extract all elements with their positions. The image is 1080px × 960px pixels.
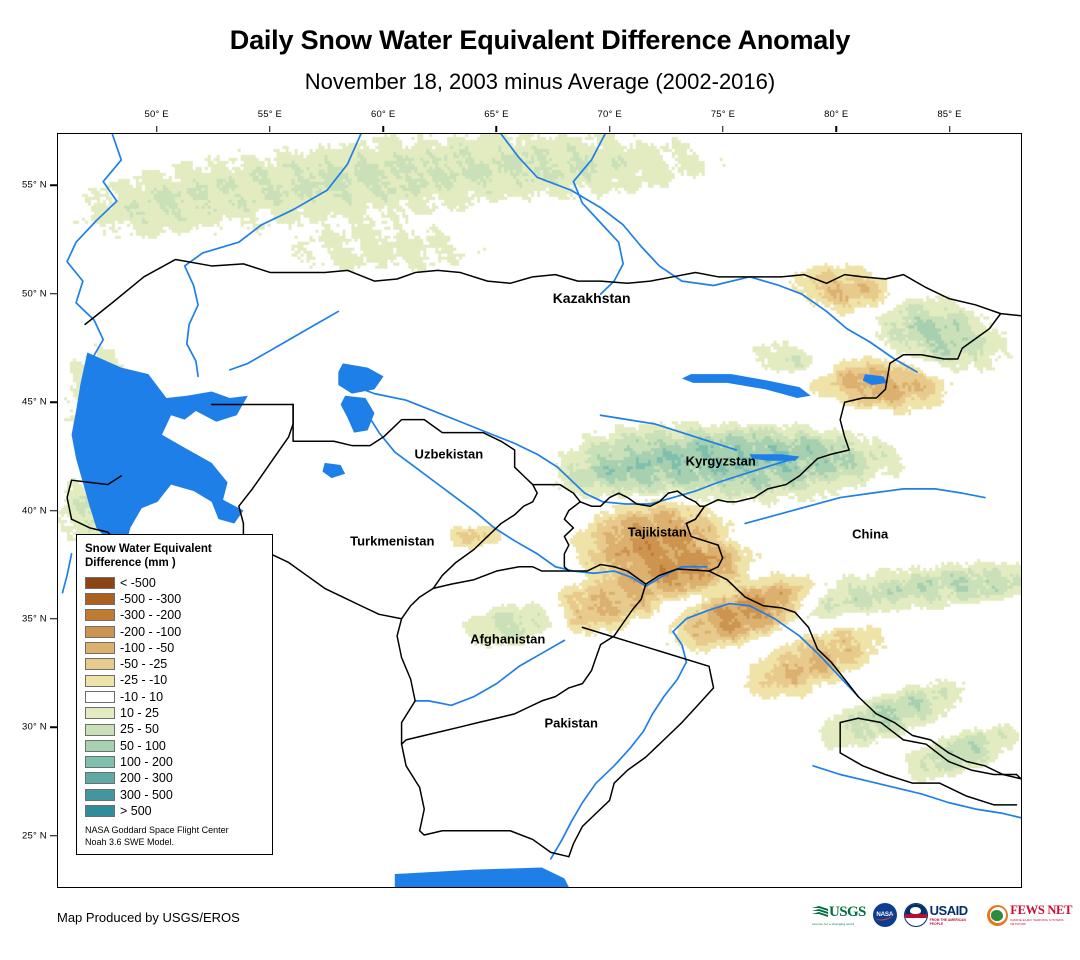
legend-swatch bbox=[85, 789, 115, 801]
arabian-sea bbox=[395, 868, 569, 887]
legend-label: < -500 bbox=[120, 577, 156, 590]
legend-label: -10 - 10 bbox=[120, 691, 163, 704]
legend-swatch bbox=[85, 740, 115, 752]
border-pak-coast bbox=[420, 831, 569, 857]
legend-row[interactable]: -50 - -25 bbox=[85, 656, 264, 672]
legend-row[interactable]: > 500 bbox=[85, 803, 264, 819]
ural-river bbox=[185, 134, 361, 376]
fews-net-logo: FEWS NET FAMINE EARLY WARNING SYSTEMS NE… bbox=[987, 903, 1080, 927]
border-turkmen-kz bbox=[239, 404, 293, 523]
country-label-uzbekistan: Uzbekistan bbox=[415, 447, 484, 462]
usgs-wave-icon bbox=[812, 906, 828, 919]
legend-swatch bbox=[85, 609, 115, 621]
usaid-logo: USAID FROM THE AMERICAN PEOPLE bbox=[904, 903, 981, 927]
aral-sea-south bbox=[341, 396, 375, 433]
tobol-irtysh bbox=[501, 134, 917, 372]
border-tj-uz bbox=[564, 502, 580, 571]
border-turkmen-uz bbox=[433, 485, 537, 589]
usgs-logo: USGS science for a changing world bbox=[812, 903, 866, 927]
lat-label-45: 45° N bbox=[22, 397, 47, 408]
legend-row[interactable]: -500 - -300 bbox=[85, 591, 264, 607]
country-label-pakistan: Pakistan bbox=[544, 716, 597, 731]
legend-label: -25 - -10 bbox=[120, 674, 167, 687]
border-india-nepal-s bbox=[840, 723, 1016, 805]
legend-source-line1: NASA Goddard Space Flight Center bbox=[85, 824, 264, 836]
legend-label: -200 - -100 bbox=[120, 626, 181, 639]
caspian-sea bbox=[72, 353, 248, 546]
map-credit: Map Produced by USGS/EROS bbox=[57, 910, 240, 925]
volga-river bbox=[67, 134, 121, 385]
legend-row[interactable]: 50 - 100 bbox=[85, 738, 264, 754]
lon-tick-65 bbox=[496, 126, 498, 132]
legend-label: -300 - -200 bbox=[120, 609, 181, 622]
legend-label: > 500 bbox=[120, 805, 152, 818]
tigris-tributary bbox=[62, 554, 71, 593]
border-iran-pak-w bbox=[402, 744, 425, 831]
legend-swatch bbox=[85, 772, 115, 784]
helmand-river bbox=[415, 640, 564, 705]
legend-row[interactable]: -10 - 10 bbox=[85, 689, 264, 705]
title-block: Daily Snow Water Equivalent Difference A… bbox=[0, 0, 1080, 94]
fews-net-wordmark: FEWS NET bbox=[1010, 904, 1072, 917]
border-afg-iran bbox=[397, 588, 433, 744]
border-pak-china bbox=[709, 571, 808, 627]
lat-tick-45 bbox=[50, 401, 57, 403]
lat-tick-50 bbox=[50, 293, 57, 295]
lat-label-35: 35° N bbox=[22, 613, 47, 624]
lon-label-60: 60° E bbox=[371, 109, 395, 120]
legend-swatch bbox=[85, 577, 115, 589]
usgs-wordmark: USGS bbox=[829, 904, 866, 921]
legend-label: 10 - 25 bbox=[120, 707, 159, 720]
legend-row[interactable]: -25 - -10 bbox=[85, 673, 264, 689]
lat-tick-40 bbox=[50, 510, 57, 512]
legend-row[interactable]: -100 - -50 bbox=[85, 640, 264, 656]
lon-label-65: 65° E bbox=[484, 109, 508, 120]
legend-title: Snow Water Equivalent Difference (mm ) bbox=[85, 542, 264, 571]
lon-tick-50 bbox=[156, 126, 158, 132]
lat-label-55: 55° N bbox=[22, 180, 47, 191]
legend-swatch bbox=[85, 756, 115, 768]
lat-label-50: 50° N bbox=[22, 288, 47, 299]
nasa-logo: NASA bbox=[873, 903, 897, 927]
lat-label-30: 30° N bbox=[22, 722, 47, 733]
page-title: Daily Snow Water Equivalent Difference A… bbox=[0, 26, 1080, 56]
border-kazakhstan-china bbox=[840, 314, 1000, 450]
lat-label-25: 25° N bbox=[22, 830, 47, 841]
lat-label-40: 40° N bbox=[22, 505, 47, 516]
lon-tick-80 bbox=[835, 126, 837, 132]
border-caucasus-w bbox=[67, 480, 71, 519]
border-tajik-china bbox=[686, 523, 722, 571]
border-kg-internal bbox=[686, 506, 704, 523]
lon-tick-60 bbox=[382, 126, 384, 132]
lat-tick-35 bbox=[50, 618, 57, 620]
lon-tick-85 bbox=[949, 126, 951, 132]
legend-swatch bbox=[85, 642, 115, 654]
indus-river bbox=[551, 604, 858, 859]
legend-row[interactable]: < -500 bbox=[85, 575, 264, 591]
legend-row[interactable]: 300 - 500 bbox=[85, 787, 264, 803]
lon-label-70: 70° E bbox=[598, 109, 622, 120]
legend-label: 50 - 100 bbox=[120, 740, 166, 753]
usgs-tagline: science for a changing world bbox=[812, 922, 854, 926]
syr-darya bbox=[345, 383, 795, 504]
lon-tick-55 bbox=[269, 126, 271, 132]
border-pak-india bbox=[569, 627, 714, 856]
border-afg-turkmen bbox=[433, 567, 569, 589]
lake-alakol bbox=[863, 374, 888, 385]
country-label-afghanistan: Afghanistan bbox=[470, 631, 545, 646]
lon-tick-75 bbox=[722, 126, 724, 132]
legend-label: -500 - -300 bbox=[120, 593, 181, 606]
amu-darya bbox=[365, 411, 706, 586]
emba-river bbox=[230, 311, 338, 369]
legend-row[interactable]: 25 - 50 bbox=[85, 721, 264, 737]
lon-label-80: 80° E bbox=[824, 109, 848, 120]
legend-swatch bbox=[85, 626, 115, 638]
legend-label: 300 - 500 bbox=[120, 789, 173, 802]
legend-swatch bbox=[85, 658, 115, 670]
lake-balkhash bbox=[682, 374, 811, 398]
usaid-wordmark: USAID bbox=[930, 904, 968, 917]
country-label-kazakhstan: Kazakhstan bbox=[553, 290, 631, 306]
legend-swatch bbox=[85, 805, 115, 817]
legend-row[interactable]: 100 - 200 bbox=[85, 754, 264, 770]
ishim-river bbox=[573, 134, 623, 294]
legend-swatch bbox=[85, 593, 115, 605]
usaid-tagline: FROM THE AMERICAN PEOPLE bbox=[930, 918, 981, 926]
legend-source-line2: Noah 3.6 SWE Model. bbox=[85, 836, 264, 848]
legend-row[interactable]: 200 - 300 bbox=[85, 770, 264, 786]
sarygamysh bbox=[322, 463, 345, 478]
legend-swatch bbox=[85, 691, 115, 703]
border-nepal bbox=[840, 718, 1016, 774]
lon-label-55: 55° E bbox=[258, 109, 282, 120]
legend-label: 100 - 200 bbox=[120, 756, 173, 769]
lon-label-75: 75° E bbox=[711, 109, 735, 120]
legend-row[interactable]: -200 - -100 bbox=[85, 624, 264, 640]
legend-panel[interactable]: Snow Water Equivalent Difference (mm ) <… bbox=[76, 534, 273, 855]
usaid-seal-icon bbox=[904, 903, 928, 927]
legend-title-line1: Snow Water Equivalent bbox=[85, 542, 264, 556]
lon-label-85: 85° E bbox=[937, 109, 961, 120]
legend-class-list: < -500-500 - -300-300 - -200-200 - -100-… bbox=[85, 575, 264, 819]
border-russia-kazakhstan bbox=[85, 259, 1000, 324]
tarim-river bbox=[745, 489, 985, 524]
legend-swatch bbox=[85, 724, 115, 736]
lon-label-50: 50° E bbox=[144, 109, 168, 120]
country-label-kyrgyzstan: Kyrgyzstan bbox=[686, 453, 756, 468]
lat-tick-55 bbox=[50, 184, 57, 186]
country-label-tajikistan: Tajikistan bbox=[628, 525, 687, 540]
lon-tick-70 bbox=[609, 126, 611, 132]
legend-swatch bbox=[85, 707, 115, 719]
lat-tick-30 bbox=[50, 727, 57, 729]
legend-label: -100 - -50 bbox=[120, 642, 174, 655]
legend-title-line2: Difference (mm ) bbox=[85, 556, 264, 570]
lat-tick-25 bbox=[50, 835, 57, 837]
legend-label: 200 - 300 bbox=[120, 772, 173, 785]
legend-label: 25 - 50 bbox=[120, 723, 159, 736]
legend-source-note: NASA Goddard Space Flight Center Noah 3.… bbox=[85, 824, 264, 848]
country-label-china: China bbox=[852, 527, 888, 542]
legend-label: -50 - -25 bbox=[120, 658, 167, 671]
fews-globe-icon bbox=[987, 905, 1008, 926]
border-mongolia bbox=[1001, 314, 1021, 316]
fews-net-tagline: FAMINE EARLY WARNING SYSTEMS NETWORK bbox=[1010, 918, 1080, 926]
legend-swatch bbox=[85, 675, 115, 687]
country-label-turkmenistan: Turkmenistan bbox=[350, 533, 434, 548]
chu-river bbox=[601, 415, 737, 450]
legend-row[interactable]: -300 - -200 bbox=[85, 607, 264, 623]
page-subtitle: November 18, 2003 minus Average (2002-20… bbox=[0, 70, 1080, 94]
agency-logo-bar: USGS science for a changing world NASA U… bbox=[812, 900, 1080, 930]
legend-row[interactable]: 10 - 25 bbox=[85, 705, 264, 721]
border-india-china bbox=[809, 627, 1021, 778]
